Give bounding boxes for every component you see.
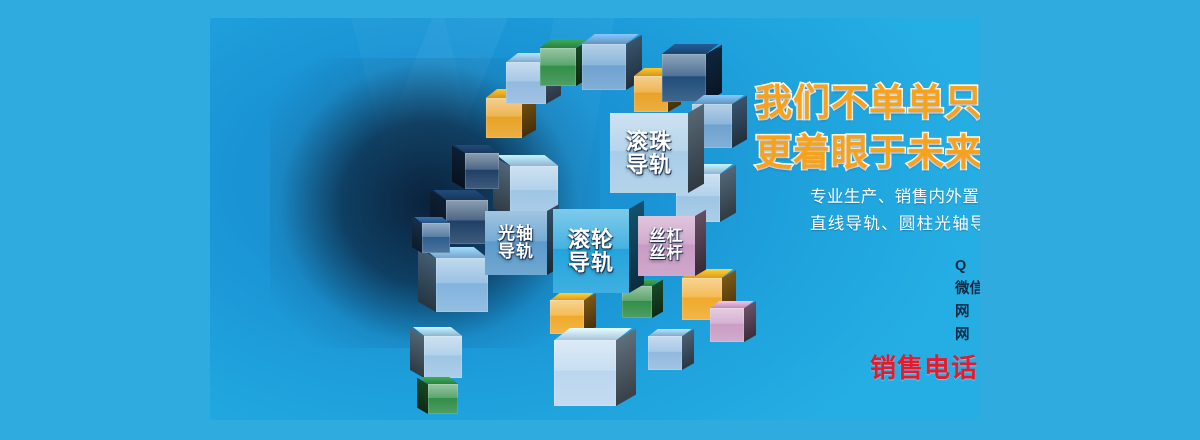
contact-row: 网址：Www.Zxdgzc.Com: [955, 300, 980, 323]
cube-shape: [446, 200, 488, 244]
product-label-line-1: 滚轮: [568, 228, 614, 251]
cube-shape: [554, 340, 616, 406]
cube-front-face: [446, 200, 488, 244]
cube-shape: [540, 48, 576, 86]
cube-front-face: [422, 223, 450, 253]
cube-front-face: [554, 340, 616, 406]
product-label-roller-guide[interactable]: 滚轮导轨: [553, 209, 629, 293]
contact-row: QQ：80286553: [955, 254, 980, 277]
sales-phone[interactable]: 销售电话：18357860469: [870, 348, 980, 385]
cube-shape: [422, 223, 450, 253]
cube-shape: [428, 384, 458, 414]
product-label-side-face: [688, 104, 704, 193]
contact-row: 微信号：zxdgzc（直线导轨轴承）: [955, 277, 980, 300]
cube-side-face: [410, 328, 424, 378]
headline-line-2: 更着眼于未来与您长期合作: [755, 122, 980, 176]
contact-key: QQ：: [955, 254, 980, 275]
cube-shape: [465, 153, 499, 189]
cube-side-face: [732, 95, 747, 148]
cube-front-face: [424, 336, 462, 378]
contact-row: 网址：Www.Cnzxdg.Com: [955, 323, 980, 346]
product-label-line-1: 滚珠: [626, 130, 672, 153]
headline-line-1: 我们不单单只做您目前的订单: [755, 72, 980, 126]
cube-front-face: [648, 336, 682, 370]
cube-side-face: [418, 248, 436, 312]
copy-column: 我们不单单只做您目前的订单 更着眼于未来与您长期合作 专业生产、销售内外置双轴心…: [755, 36, 980, 420]
product-label-line-1: 光轴: [498, 225, 534, 243]
product-label-line-2: 导轨: [568, 251, 614, 274]
product-label-rolling-ball-guide[interactable]: 滚珠导轨: [610, 113, 688, 193]
product-label-lead-screw[interactable]: 丝杠丝杆: [638, 216, 695, 276]
cube-front-face: [465, 153, 499, 189]
contact-key: 微信号：: [955, 277, 980, 298]
cube-shape: [486, 98, 522, 138]
cube-shape: [648, 336, 682, 370]
cube-shape: [710, 308, 744, 342]
cube-side-face: [682, 329, 694, 370]
cube-front-face: [436, 258, 488, 312]
cube-front-face: [710, 308, 744, 342]
cube-front-face: [582, 44, 626, 90]
banner-canvas: 滚珠导轨光轴导轨滚轮导轨丝杠丝杆 我们不单单只做您目前的订单 更着眼于未来与您长…: [0, 0, 1200, 440]
cube-side-face: [744, 301, 756, 342]
cube-front-face: [428, 384, 458, 414]
contact-info-list: QQ：80286553微信号：zxdgzc（直线导轨轴承）网址：Www.Zxdg…: [955, 254, 980, 346]
cube-shape: [662, 54, 706, 102]
product-label-line-2: 丝杆: [649, 246, 683, 263]
product-description: 专业生产、销售内外置双轴心滚轮直线导轨、滚珠直线导轨、圆柱光轴导轨、丝杠丝杆、直…: [810, 184, 980, 264]
cube-side-face: [652, 280, 663, 318]
cube-shape: [424, 336, 462, 378]
contact-key: 网址：: [955, 300, 980, 321]
product-label-line-2: 导轨: [498, 243, 534, 261]
cube-front-face: [662, 54, 706, 102]
promo-banner: 滚珠导轨光轴导轨滚轮导轨丝杠丝杆 我们不单单只做您目前的订单 更着眼于未来与您长…: [210, 18, 980, 420]
cube-shape: [436, 258, 488, 312]
product-label-optical-axis-guide[interactable]: 光轴导轨: [485, 211, 547, 275]
cube-side-face: [720, 165, 736, 222]
cube-front-face: [486, 98, 522, 138]
product-label-line-2: 导轨: [626, 153, 672, 176]
cube-side-face: [616, 328, 636, 406]
cube-shape: [582, 44, 626, 90]
contact-key: 网址：: [955, 323, 980, 344]
product-label-line-1: 丝杠: [649, 229, 683, 246]
cube-side-face: [706, 45, 722, 102]
sales-phone-label: 销售电话：: [870, 353, 980, 383]
product-label-side-face: [695, 210, 706, 276]
cube-front-face: [540, 48, 576, 86]
